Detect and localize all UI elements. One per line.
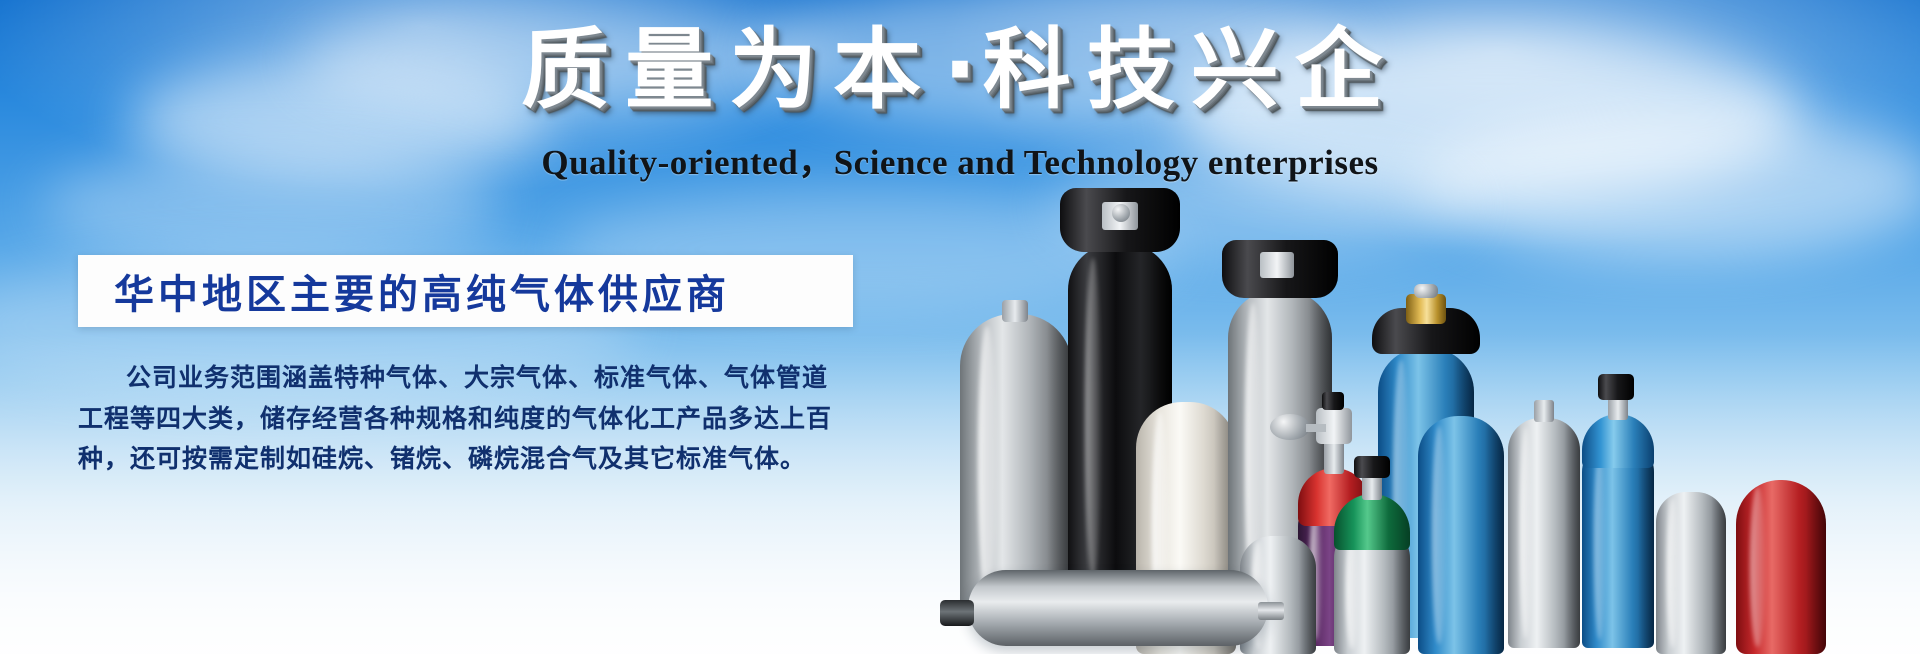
cylinder-handwheel: [1270, 414, 1310, 440]
cylinder-highlight: [1750, 487, 1764, 647]
cylinder-aluminium-short: [1656, 492, 1726, 654]
description-line-3: 种，还可按需定制如硅烷、锗烷、磷烷混合气及其它标准气体。: [78, 439, 868, 480]
cylinder-highlight: [1085, 258, 1102, 582]
description-line-1: 公司业务范围涵盖特种气体、大宗气体、标准气体、气体管道: [78, 358, 868, 399]
promotional-banner: 质量为本·科技兴企 Quality-oriented，Science and T…: [0, 0, 1920, 654]
cylinder-grey-tall-left: [960, 314, 1072, 614]
cylinder-valve: [1354, 456, 1390, 478]
cylinder-horizontal-valve: [940, 600, 974, 626]
cylinder-blue-shoulder: [1582, 414, 1654, 468]
cylinder-valve: [1260, 252, 1294, 278]
cylinder-shadow-edge: [1711, 492, 1726, 654]
tagline-box: 华中地区主要的高纯气体供应商: [78, 255, 853, 327]
cylinder-valve-stem: [1306, 424, 1326, 432]
cylinder-horizontal-neck: [1258, 602, 1284, 620]
cylinder-valve: [1598, 374, 1634, 400]
cylinder-valve-top: [1322, 392, 1344, 410]
headline-part-one: 质量为本: [521, 18, 937, 121]
cylinder-neck: [1324, 440, 1344, 474]
cylinder-blue-slim: [1582, 440, 1654, 648]
gas-cylinder-group: [940, 0, 1920, 654]
cylinder-knob: [1414, 284, 1438, 298]
cylinder-shadow-edge: [1564, 418, 1580, 648]
cylinder-shadow-edge: [1485, 416, 1504, 654]
cylinder-shadow-edge: [1638, 440, 1654, 648]
cylinder-red-rounded: [1736, 480, 1826, 654]
cylinder-grey-horizontal: [968, 570, 1268, 646]
description-line-2: 工程等四大类，储存经营各种规格和纯度的气体化工产品多达上百: [78, 399, 868, 440]
cylinder-shadow-edge: [1299, 536, 1316, 654]
cylinder-aluminium-tall: [1508, 418, 1580, 648]
cylinder-highlight: [1520, 427, 1532, 639]
cylinder-highlight: [1432, 426, 1446, 645]
cylinder-highlight: [978, 326, 996, 602]
banner-description: 公司业务范围涵盖特种气体、大宗气体、标准气体、气体管道 工程等四大类，储存经营各…: [78, 358, 868, 480]
cylinder-highlight: [1667, 498, 1678, 647]
tagline-text: 华中地区主要的高纯气体供应商: [78, 262, 730, 320]
cylinder-blue-tall-right: [1418, 416, 1504, 654]
cylinder-neck: [1534, 400, 1554, 422]
cylinder-brass-valve: [1406, 294, 1446, 324]
cylinder-neck: [1002, 300, 1028, 322]
cylinder-shadow-edge: [1806, 480, 1826, 654]
cylinder-knob: [1112, 204, 1130, 222]
cylinder-highlight: [1594, 448, 1606, 639]
